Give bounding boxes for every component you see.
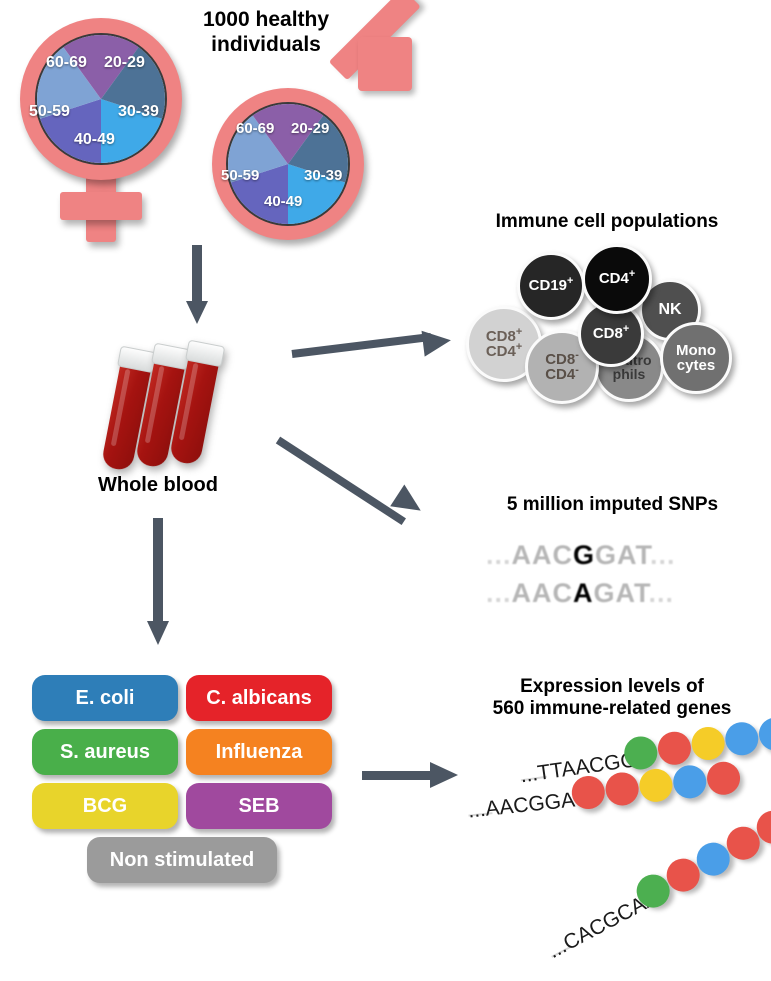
expression-bead: [638, 767, 674, 803]
cell-sup1: +: [629, 268, 635, 280]
whole-blood-tubes: [112, 342, 242, 472]
expression-bead: [723, 720, 760, 757]
cell-line2: cytes: [677, 357, 715, 374]
expression-bead: [672, 764, 708, 800]
stimulus-seb[interactable]: SEB: [186, 783, 332, 829]
snp-suffix: ...: [650, 540, 676, 570]
cell-line1: NK: [658, 301, 681, 318]
immune-cell-cd19p: CD19+: [517, 252, 585, 320]
snp-right: GAT: [594, 578, 649, 608]
snp-right: GAT: [595, 540, 650, 570]
arrow-shaft: [292, 333, 432, 358]
cell-label: CD8+: [593, 326, 629, 341]
strand-sequence: ...AACGGAT: [467, 787, 587, 823]
cell-line1: CD4: [599, 270, 629, 287]
snp-variant: A: [573, 578, 594, 608]
immune-title: Immune cell populations: [452, 211, 762, 233]
snp-sequences: ...AACGGAT... ...AACAGAT...: [486, 530, 746, 620]
stimulus-label: Non stimulated: [110, 849, 254, 872]
cell-line2: CD4: [545, 366, 575, 383]
male-symbol: 20-29 30-39 40-49 50-59 60-69: [196, 30, 426, 245]
snp-suffix: ...: [649, 578, 675, 608]
expression-bead: [705, 760, 741, 796]
stimulus-label: Influenza: [216, 741, 303, 764]
stimulus-label: E. coli: [76, 687, 135, 710]
expression-strands: ...TTAACGG ...AACGGAT ...CACGCAA: [448, 740, 771, 912]
snp-row: ...AACAGAT...: [486, 578, 674, 609]
snp-left: AAC: [512, 578, 574, 608]
expression-title-line2: 560 immune-related genes: [462, 698, 762, 720]
expression-bead: [757, 715, 771, 752]
pie-label-20-29-male: 20-29: [291, 120, 329, 137]
pie-label-60-69: 60-69: [46, 54, 87, 72]
pie-label-40-49-male: 40-49: [264, 193, 302, 210]
cell-label: NK: [658, 302, 681, 318]
cell-label: CD8+ CD4+: [486, 329, 522, 360]
snp-variant: G: [573, 540, 595, 570]
immune-cell-cluster: CD8+ CD4+ CD19+ CD4+ CD8+ NK Mono cytes …: [466, 244, 756, 409]
cell-label: CD19+: [529, 278, 574, 293]
stimulus-c-albicans[interactable]: C. albicans: [186, 675, 332, 721]
stimulus-label: SEB: [238, 795, 279, 818]
arrow-blood-to-snps: [278, 428, 448, 538]
expression-bead: [604, 771, 640, 807]
cell-line2: phils: [613, 366, 646, 382]
arrow-shaft: [276, 437, 406, 525]
pie-label-50-59-male: 50-59: [221, 167, 259, 184]
pie-label-20-29: 20-29: [104, 54, 145, 72]
expression-title: Expression levels of 560 immune-related …: [462, 676, 762, 721]
cell-line1: CD19: [529, 277, 567, 294]
pie-label-60-69-male: 60-69: [236, 120, 274, 137]
stimulus-e-coli[interactable]: E. coli: [32, 675, 178, 721]
whole-blood-label: Whole blood: [78, 474, 238, 498]
stimulus-bcg[interactable]: BCG: [32, 783, 178, 829]
snp-left: AAC: [512, 540, 574, 570]
female-stem-horizontal: [60, 192, 142, 220]
stimulus-non-stimulated[interactable]: Non stimulated: [87, 837, 277, 883]
stimulus-label: BCG: [83, 795, 127, 818]
cell-sup1: +: [567, 275, 573, 287]
pie-label-40-49: 40-49: [74, 131, 115, 149]
cell-line2: CD4: [486, 343, 516, 360]
arrow-head: [147, 621, 169, 645]
stimuli-panel: E. coli C. albicans S. aureus Influenza …: [32, 675, 342, 895]
immune-cell-cd4p: CD4+: [582, 244, 652, 314]
arrow-head: [186, 301, 208, 324]
arrow-blood-to-immune: [292, 330, 457, 370]
arrow-shaft: [153, 518, 163, 626]
stimulus-s-aureus[interactable]: S. aureus: [32, 729, 178, 775]
stimulus-influenza[interactable]: Influenza: [186, 729, 332, 775]
male-arrow-head: [358, 37, 412, 91]
arrow-head: [422, 327, 453, 356]
arrow-shaft: [362, 771, 434, 780]
cell-label: CD8- CD4-: [545, 352, 579, 383]
cell-sup2: +: [516, 341, 522, 353]
pie-label-50-59: 50-59: [29, 103, 70, 121]
arrow-shaft: [192, 245, 202, 305]
cell-sup1: +: [516, 326, 522, 338]
pie-label-30-39-male: 30-39: [304, 167, 342, 184]
cell-line1: CD8: [593, 325, 623, 342]
expression-bead: [656, 730, 693, 767]
stimulus-label: C. albicans: [206, 687, 312, 710]
stimulus-label: S. aureus: [60, 741, 150, 764]
snp-prefix: ...: [486, 578, 512, 608]
female-symbol: 20-29 30-39 40-49 50-59 60-69: [8, 14, 198, 244]
arrow-blood-to-stimuli: [146, 518, 172, 648]
cell-sup1: -: [575, 349, 579, 361]
expression-strand: ...CACGCAA: [541, 819, 771, 981]
expression-title-line1: Expression levels of: [462, 676, 762, 698]
pie-label-30-39: 30-39: [118, 103, 159, 121]
immune-cell-monocytes: Mono cytes: [660, 322, 732, 394]
cell-sup1: +: [623, 323, 629, 335]
cell-sup2: -: [575, 364, 579, 376]
expression-bead: [689, 725, 726, 762]
cell-label: Mono cytes: [676, 343, 716, 374]
snps-title: 5 million imputed SNPs: [470, 494, 755, 516]
cell-label: CD4+: [599, 271, 635, 286]
arrow-cohort-to-blood: [186, 245, 208, 323]
snp-prefix: ...: [486, 540, 512, 570]
snp-row: ...AACGGAT...: [486, 540, 676, 571]
